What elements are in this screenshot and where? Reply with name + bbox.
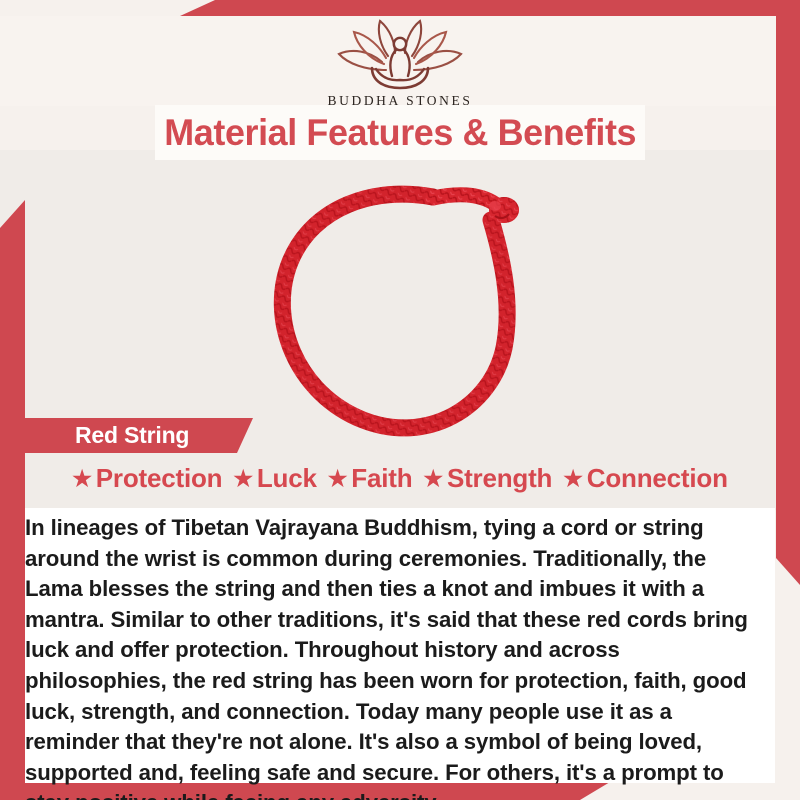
- benefit-label: Connection: [587, 463, 728, 494]
- benefit-item-protection: ★ Protection: [72, 463, 222, 494]
- product-name-banner: Red String: [25, 418, 253, 453]
- star-icon: ★: [328, 468, 348, 490]
- benefit-item-connection: ★ Connection: [563, 463, 728, 494]
- brand-name: BUDDHA STONES: [0, 93, 800, 109]
- brand-logo: BUDDHA STONES: [0, 18, 800, 109]
- benefit-item-strength: ★ Strength: [423, 463, 552, 494]
- benefit-label: Luck: [257, 463, 317, 494]
- benefit-item-faith: ★ Faith: [328, 463, 413, 494]
- star-icon: ★: [563, 468, 583, 490]
- frame-left-bar: [0, 200, 25, 790]
- title-band: Material Features & Benefits: [155, 105, 645, 160]
- star-icon: ★: [233, 468, 253, 490]
- infographic-poster: BUDDHA STONES Material Features & Benefi…: [0, 0, 800, 800]
- description-panel: In lineages of Tibetan Vajrayana Buddhis…: [25, 508, 775, 783]
- benefit-label: Strength: [447, 463, 552, 494]
- star-icon: ★: [72, 468, 92, 490]
- star-icon: ★: [423, 468, 443, 490]
- page-title: Material Features & Benefits: [164, 112, 636, 154]
- benefit-label: Protection: [96, 463, 223, 494]
- benefit-item-luck: ★ Luck: [233, 463, 316, 494]
- red-braided-string-bracelet: [255, 162, 555, 452]
- benefit-label: Faith: [351, 463, 412, 494]
- frame-top-bar: [0, 0, 800, 16]
- benefits-row: ★ Protection ★ Luck ★ Faith ★ Strength ★…: [0, 463, 800, 494]
- banner-label: Red String: [75, 422, 189, 449]
- description-text: In lineages of Tibetan Vajrayana Buddhis…: [25, 508, 771, 800]
- lotus-meditation-icon: [0, 18, 800, 90]
